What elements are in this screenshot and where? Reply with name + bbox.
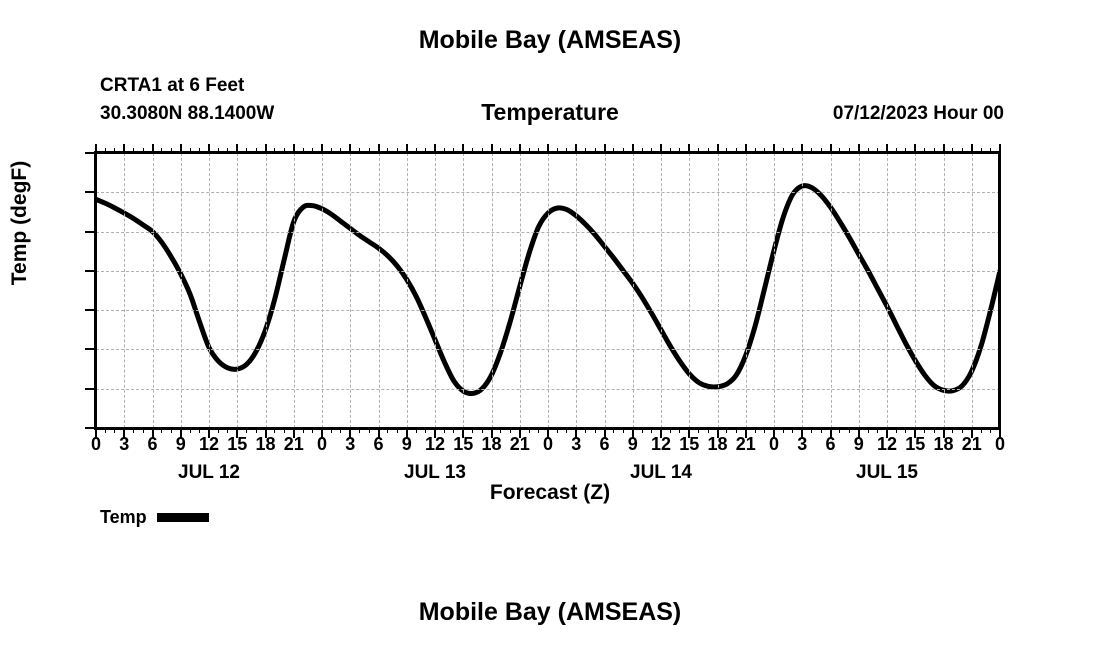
x-axis-minor-tick-top (143, 148, 144, 153)
x-axis-minor-tick (246, 428, 247, 433)
x-axis-hour-label: 6 (816, 434, 846, 455)
x-axis-minor-tick (877, 428, 878, 433)
x-axis-minor-tick (623, 428, 624, 433)
x-axis-minor-tick-top (105, 148, 106, 153)
x-axis-minor-tick-top (585, 148, 586, 153)
x-axis-hour-label: 12 (646, 434, 676, 455)
x-axis-tick-top (152, 144, 154, 153)
x-axis-hour-label: 18 (477, 434, 507, 455)
x-axis-minor-tick-top (246, 148, 247, 153)
x-axis-minor-tick-top (274, 148, 275, 153)
x-axis-tick-top (745, 144, 747, 153)
x-axis-minor-tick-top (924, 148, 925, 153)
y-axis-tick (85, 231, 96, 233)
x-axis-hour-label: 0 (759, 434, 789, 455)
x-axis-hour-label: 0 (307, 434, 337, 455)
x-axis-tick-top (688, 144, 690, 153)
x-axis-minor-tick-top (896, 148, 897, 153)
x-axis-minor-tick (613, 428, 614, 433)
page-title-bottom: Mobile Bay (AMSEAS) (0, 598, 1100, 627)
x-axis-minor-tick-top (792, 148, 793, 153)
x-axis-minor-tick (161, 428, 162, 433)
x-axis-minor-tick-top (387, 148, 388, 153)
x-axis-tick-top (858, 144, 860, 153)
x-axis-tick-top (434, 144, 436, 153)
x-axis-minor-tick-top (359, 148, 360, 153)
legend: Temp (100, 507, 209, 528)
x-axis-minor-tick-top (642, 148, 643, 153)
x-axis-minor-tick (764, 428, 765, 433)
x-axis-minor-tick (905, 428, 906, 433)
x-axis-minor-tick-top (510, 148, 511, 153)
x-axis-minor-tick-top (472, 148, 473, 153)
x-axis-minor-tick (679, 428, 680, 433)
x-axis-minor-tick-top (821, 148, 822, 153)
x-axis-minor-tick (792, 428, 793, 433)
x-axis-minor-tick (642, 428, 643, 433)
x-axis-hour-label: 21 (957, 434, 987, 455)
x-axis-minor-tick (218, 428, 219, 433)
x-axis-minor-tick-top (256, 148, 257, 153)
x-axis-hour-label: 21 (731, 434, 761, 455)
x-axis-tick-top (265, 144, 267, 153)
x-axis-minor-tick-top (453, 148, 454, 153)
x-axis-title: Forecast (Z) (0, 481, 1100, 505)
x-axis-tick-top (378, 144, 380, 153)
x-axis-minor-tick-top (755, 148, 756, 153)
x-axis-minor-tick-top (218, 148, 219, 153)
y-axis-title-wrap: Temp (degF) (12, 160, 40, 430)
x-axis-minor-tick-top (529, 148, 530, 153)
x-axis-tick-top (208, 144, 210, 153)
x-axis-tick-top (123, 144, 125, 153)
x-axis-minor-tick (387, 428, 388, 433)
x-axis-hour-label: 6 (590, 434, 620, 455)
x-axis-minor-tick-top (199, 148, 200, 153)
x-axis-tick-top (462, 144, 464, 153)
x-axis-minor-tick-top (331, 148, 332, 153)
x-axis-tick-top (660, 144, 662, 153)
x-axis-minor-tick (472, 428, 473, 433)
x-axis-minor-tick-top (811, 148, 812, 153)
x-axis-minor-tick (896, 428, 897, 433)
x-axis-minor-tick-top (952, 148, 953, 153)
x-axis-minor-tick (274, 428, 275, 433)
y-axis-title: Temp (degF) (8, 108, 32, 338)
x-axis-minor-tick (453, 428, 454, 433)
x-axis-hour-label: 0 (81, 434, 111, 455)
x-axis-minor-tick (529, 428, 530, 433)
x-axis-minor-tick-top (651, 148, 652, 153)
x-axis-minor-tick (839, 428, 840, 433)
x-axis-minor-tick (359, 428, 360, 433)
x-axis-hour-label: 9 (844, 434, 874, 455)
x-axis-minor-tick (256, 428, 257, 433)
x-axis-minor-tick-top (171, 148, 172, 153)
legend-line-swatch (157, 513, 209, 522)
x-axis-minor-tick-top (670, 148, 671, 153)
x-axis-minor-tick (538, 428, 539, 433)
x-axis-minor-tick (981, 428, 982, 433)
x-axis-minor-tick (416, 428, 417, 433)
x-axis-minor-tick (821, 428, 822, 433)
x-axis-minor-tick (227, 428, 228, 433)
x-axis-tick-top (632, 144, 634, 153)
x-axis-minor-tick-top (783, 148, 784, 153)
x-axis-minor-tick-top (425, 148, 426, 153)
x-axis-minor-tick (708, 428, 709, 433)
x-axis-hour-label: 9 (392, 434, 422, 455)
x-axis-hour-label: 6 (364, 434, 394, 455)
x-axis-minor-tick-top (190, 148, 191, 153)
x-axis-minor-tick-top (736, 148, 737, 153)
x-axis-tick-top (293, 144, 295, 153)
page-title-top: Mobile Bay (AMSEAS) (0, 26, 1100, 55)
x-axis-hour-label: 21 (279, 434, 309, 455)
x-axis-tick-top (717, 144, 719, 153)
x-axis-hour-label: 18 (929, 434, 959, 455)
x-axis-tick-top (575, 144, 577, 153)
x-axis-minor-tick (924, 428, 925, 433)
chart-page: Mobile Bay (AMSEAS) CRTA1 at 6 Feet 30.3… (0, 0, 1100, 650)
x-axis-minor-tick-top (227, 148, 228, 153)
x-axis-minor-tick-top (623, 148, 624, 153)
x-axis-minor-tick (557, 428, 558, 433)
x-axis-tick-top (491, 144, 493, 153)
x-axis-tick-top (801, 144, 803, 153)
x-axis-minor-tick (670, 428, 671, 433)
x-axis-minor-tick-top (482, 148, 483, 153)
x-axis-hour-label: 9 (618, 434, 648, 455)
x-axis-minor-tick-top (133, 148, 134, 153)
x-axis-minor-tick (755, 428, 756, 433)
x-axis-minor-tick (736, 428, 737, 433)
x-axis-minor-tick-top (849, 148, 850, 153)
x-axis-tick-top (830, 144, 832, 153)
x-axis-minor-tick (651, 428, 652, 433)
x-axis-hour-label: 12 (194, 434, 224, 455)
x-axis-minor-tick (425, 428, 426, 433)
y-axis-tick (85, 348, 96, 350)
x-axis-minor-tick (510, 428, 511, 433)
x-axis-minor-tick (566, 428, 567, 433)
x-axis-hour-label: 3 (561, 434, 591, 455)
x-axis-tick-top (349, 144, 351, 153)
x-axis-hour-label: 15 (448, 434, 478, 455)
station-label: CRTA1 at 6 Feet (100, 75, 244, 97)
x-axis-minor-tick-top (538, 148, 539, 153)
x-axis-tick-top (95, 144, 97, 153)
x-axis-minor-tick-top (962, 148, 963, 153)
x-axis-minor-tick (934, 428, 935, 433)
x-axis-minor-tick-top (114, 148, 115, 153)
x-axis-minor-tick (190, 428, 191, 433)
x-axis-minor-tick-top (679, 148, 680, 153)
x-axis-minor-tick (171, 428, 172, 433)
x-axis-hour-label: 9 (166, 434, 196, 455)
x-axis-tick-top (604, 144, 606, 153)
x-axis-minor-tick (962, 428, 963, 433)
x-axis-minor-tick-top (726, 148, 727, 153)
y-axis-tick (85, 191, 96, 193)
x-axis-hour-label: 18 (251, 434, 281, 455)
x-axis-minor-tick-top (877, 148, 878, 153)
x-axis-minor-tick-top (839, 148, 840, 153)
x-axis-minor-tick (397, 428, 398, 433)
x-axis-minor-tick (595, 428, 596, 433)
x-axis-minor-tick (990, 428, 991, 433)
x-axis-tick-top (999, 144, 1001, 153)
x-axis-minor-tick-top (595, 148, 596, 153)
x-axis-minor-tick (199, 428, 200, 433)
x-axis-minor-tick-top (934, 148, 935, 153)
x-axis-minor-tick-top (868, 148, 869, 153)
x-axis-minor-tick-top (613, 148, 614, 153)
x-axis-minor-tick (849, 428, 850, 433)
x-axis-hour-label: 0 (985, 434, 1015, 455)
x-axis-minor-tick-top (397, 148, 398, 153)
x-axis-minor-tick-top (303, 148, 304, 153)
x-axis-minor-tick (133, 428, 134, 433)
x-axis-minor-tick (811, 428, 812, 433)
x-axis-tick-top (773, 144, 775, 153)
x-axis-minor-tick-top (444, 148, 445, 153)
x-axis-minor-tick-top (161, 148, 162, 153)
x-axis-hour-label: 15 (900, 434, 930, 455)
y-axis-tick (85, 388, 96, 390)
x-axis-minor-tick (331, 428, 332, 433)
x-axis-minor-tick-top (416, 148, 417, 153)
x-axis-minor-tick (482, 428, 483, 433)
x-axis-minor-tick (726, 428, 727, 433)
x-axis-minor-tick-top (698, 148, 699, 153)
x-axis-minor-tick-top (990, 148, 991, 153)
x-axis-minor-tick (500, 428, 501, 433)
x-axis-tick-top (321, 144, 323, 153)
x-axis-minor-tick-top (500, 148, 501, 153)
x-axis-minor-tick-top (905, 148, 906, 153)
x-axis-minor-tick (952, 428, 953, 433)
x-axis-hour-label: 3 (109, 434, 139, 455)
x-axis-hour-label: 0 (533, 434, 563, 455)
x-axis-minor-tick-top (369, 148, 370, 153)
x-axis-minor-tick (284, 428, 285, 433)
x-axis-minor-tick (585, 428, 586, 433)
x-axis-minor-tick (143, 428, 144, 433)
x-axis-minor-tick (105, 428, 106, 433)
x-axis-minor-tick (312, 428, 313, 433)
temperature-series-line (96, 153, 1000, 428)
x-axis-tick-top (180, 144, 182, 153)
y-axis-tick (85, 270, 96, 272)
x-axis-hour-label: 12 (420, 434, 450, 455)
x-axis-minor-tick-top (566, 148, 567, 153)
x-axis-tick-top (943, 144, 945, 153)
x-axis-minor-tick (303, 428, 304, 433)
x-axis-minor-tick (340, 428, 341, 433)
x-axis-hour-label: 6 (138, 434, 168, 455)
x-axis-tick-top (886, 144, 888, 153)
x-axis-tick-top (236, 144, 238, 153)
x-axis-hour-label: 18 (703, 434, 733, 455)
x-axis-hour-label: 3 (787, 434, 817, 455)
y-axis-tick (85, 309, 96, 311)
x-axis-tick-top (519, 144, 521, 153)
x-axis-minor-tick (868, 428, 869, 433)
x-axis-minor-tick (783, 428, 784, 433)
x-axis-minor-tick (114, 428, 115, 433)
x-axis-hour-label: 3 (335, 434, 365, 455)
x-axis-hour-label: 15 (674, 434, 704, 455)
x-axis-minor-tick-top (557, 148, 558, 153)
x-axis-minor-tick (698, 428, 699, 433)
x-axis-tick-top (406, 144, 408, 153)
x-axis-minor-tick-top (312, 148, 313, 153)
x-axis-minor-tick-top (764, 148, 765, 153)
x-axis-minor-tick-top (340, 148, 341, 153)
model-run-stamp: 07/12/2023 Hour 00 (833, 103, 1004, 125)
x-axis-minor-tick-top (708, 148, 709, 153)
x-axis-hour-label: 12 (872, 434, 902, 455)
x-axis-minor-tick (444, 428, 445, 433)
x-axis-tick-top (547, 144, 549, 153)
x-axis-hour-label: 15 (222, 434, 252, 455)
x-axis-hour-label: 21 (505, 434, 535, 455)
axis-right (998, 153, 1001, 428)
plot-area (96, 153, 1000, 428)
legend-label: Temp (100, 507, 147, 528)
x-axis-minor-tick-top (981, 148, 982, 153)
x-axis-minor-tick (369, 428, 370, 433)
x-axis-tick-top (914, 144, 916, 153)
x-axis-tick-top (971, 144, 973, 153)
x-axis-minor-tick-top (284, 148, 285, 153)
